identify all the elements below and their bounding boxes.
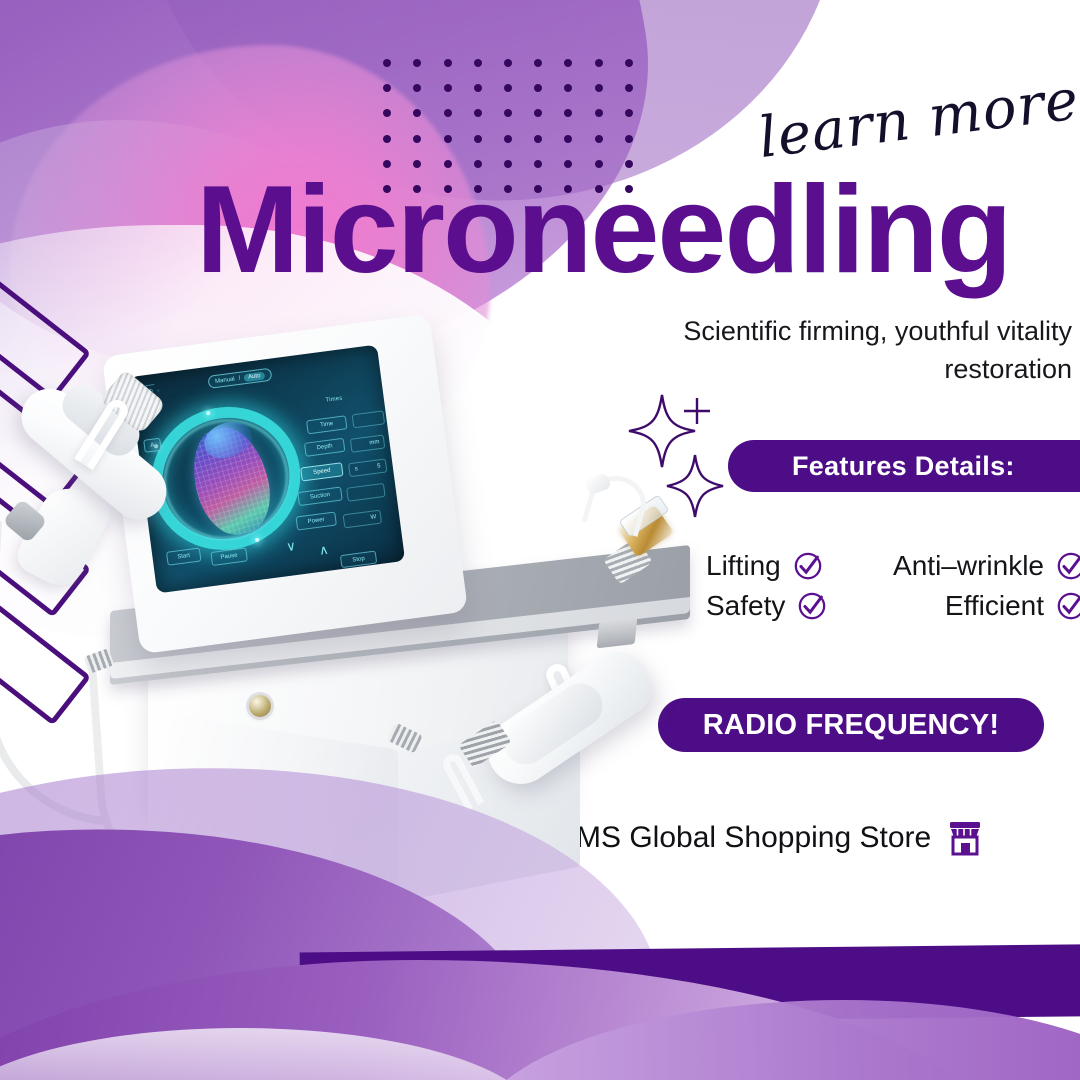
grid-dot [625,84,633,92]
side-label-auto[interactable]: A [143,438,162,453]
param-speed-value[interactable]: s 5 [348,458,388,477]
grid-dot [625,59,633,67]
grid-dot [564,59,572,67]
feature-label: Anti–wrinkle [893,550,1044,582]
grid-dot [444,109,452,117]
grid-dot [625,109,633,117]
feature-item: Anti–wrinkle [869,550,1080,582]
grid-dot [413,135,421,143]
times-header: Times [325,396,343,404]
param-speed-label[interactable]: Speed [300,462,343,481]
grid-dot [564,84,572,92]
grid-dot [504,84,512,92]
stepper-up-icon[interactable]: ∧ [318,543,329,557]
stepper-down-icon[interactable]: ∨ [285,539,296,553]
grid-dot [504,59,512,67]
features-list: Lifting Anti–wrinkle Safety Efficient [706,550,1080,622]
grid-dot [444,135,452,143]
start-button[interactable]: Start [166,547,202,565]
param-time-value[interactable] [352,410,386,428]
check-circle-icon [793,551,823,581]
param-power-value[interactable]: W [343,510,383,529]
check-circle-icon [797,591,827,621]
grid-dot [474,135,482,143]
grid-dot [564,135,572,143]
grid-dot [444,84,452,92]
learn-more-script-label: learn more [755,70,1061,171]
grid-dot [383,84,391,92]
grid-dot [413,109,421,117]
grid-dot [413,84,421,92]
param-power-label[interactable]: Power [295,511,336,530]
radio-frequency-label: RADIO FREQUENCY! [703,709,999,742]
promo-poster: learn more Microneedling Scientific firm… [0,0,1080,1080]
param-depth-value[interactable]: mm [350,434,386,452]
mode-manual-label[interactable]: Manual [215,376,235,385]
grid-dot [383,109,391,117]
check-circle-icon [1056,551,1080,581]
feature-item: Efficient [869,590,1080,622]
device-touchscreen[interactable]: ⏻ Manual / Auto A M Times Time [129,345,405,594]
grid-dot [595,109,603,117]
mode-separator: / [238,375,240,381]
grid-dot [383,135,391,143]
grid-dot [413,59,421,67]
pause-button[interactable]: Pause [210,547,248,566]
grid-dot [595,59,603,67]
param-suction-value[interactable] [346,483,386,502]
grid-dot [595,135,603,143]
param-suction-label[interactable]: Suction [297,487,342,507]
grid-dot [534,109,542,117]
grid-dot [534,84,542,92]
device-platform-port [597,618,638,649]
storefront-icon [945,818,985,858]
grid-dot [504,109,512,117]
grid-dot [595,84,603,92]
grid-dot [383,59,391,67]
grid-dot [444,59,452,67]
mode-auto-label[interactable]: Auto [244,371,265,382]
features-details-label: Features Details: [792,451,1015,482]
param-time-label[interactable]: Time [306,415,347,434]
grid-dot [534,59,542,67]
grid-dot [504,135,512,143]
grid-dot [625,135,633,143]
grid-dot [474,109,482,117]
check-circle-icon [1056,591,1080,621]
grid-dot [474,84,482,92]
device-keyswitch[interactable] [249,695,271,717]
grid-dot [564,109,572,117]
page-title: Microneedling [196,168,1080,292]
param-depth-label[interactable]: Depth [304,438,345,457]
features-details-badge: Features Details: [728,440,1080,492]
feature-label: Efficient [945,590,1044,622]
mode-toggle[interactable]: Manual / Auto [207,368,272,389]
grid-dot [474,59,482,67]
grid-dot [534,135,542,143]
